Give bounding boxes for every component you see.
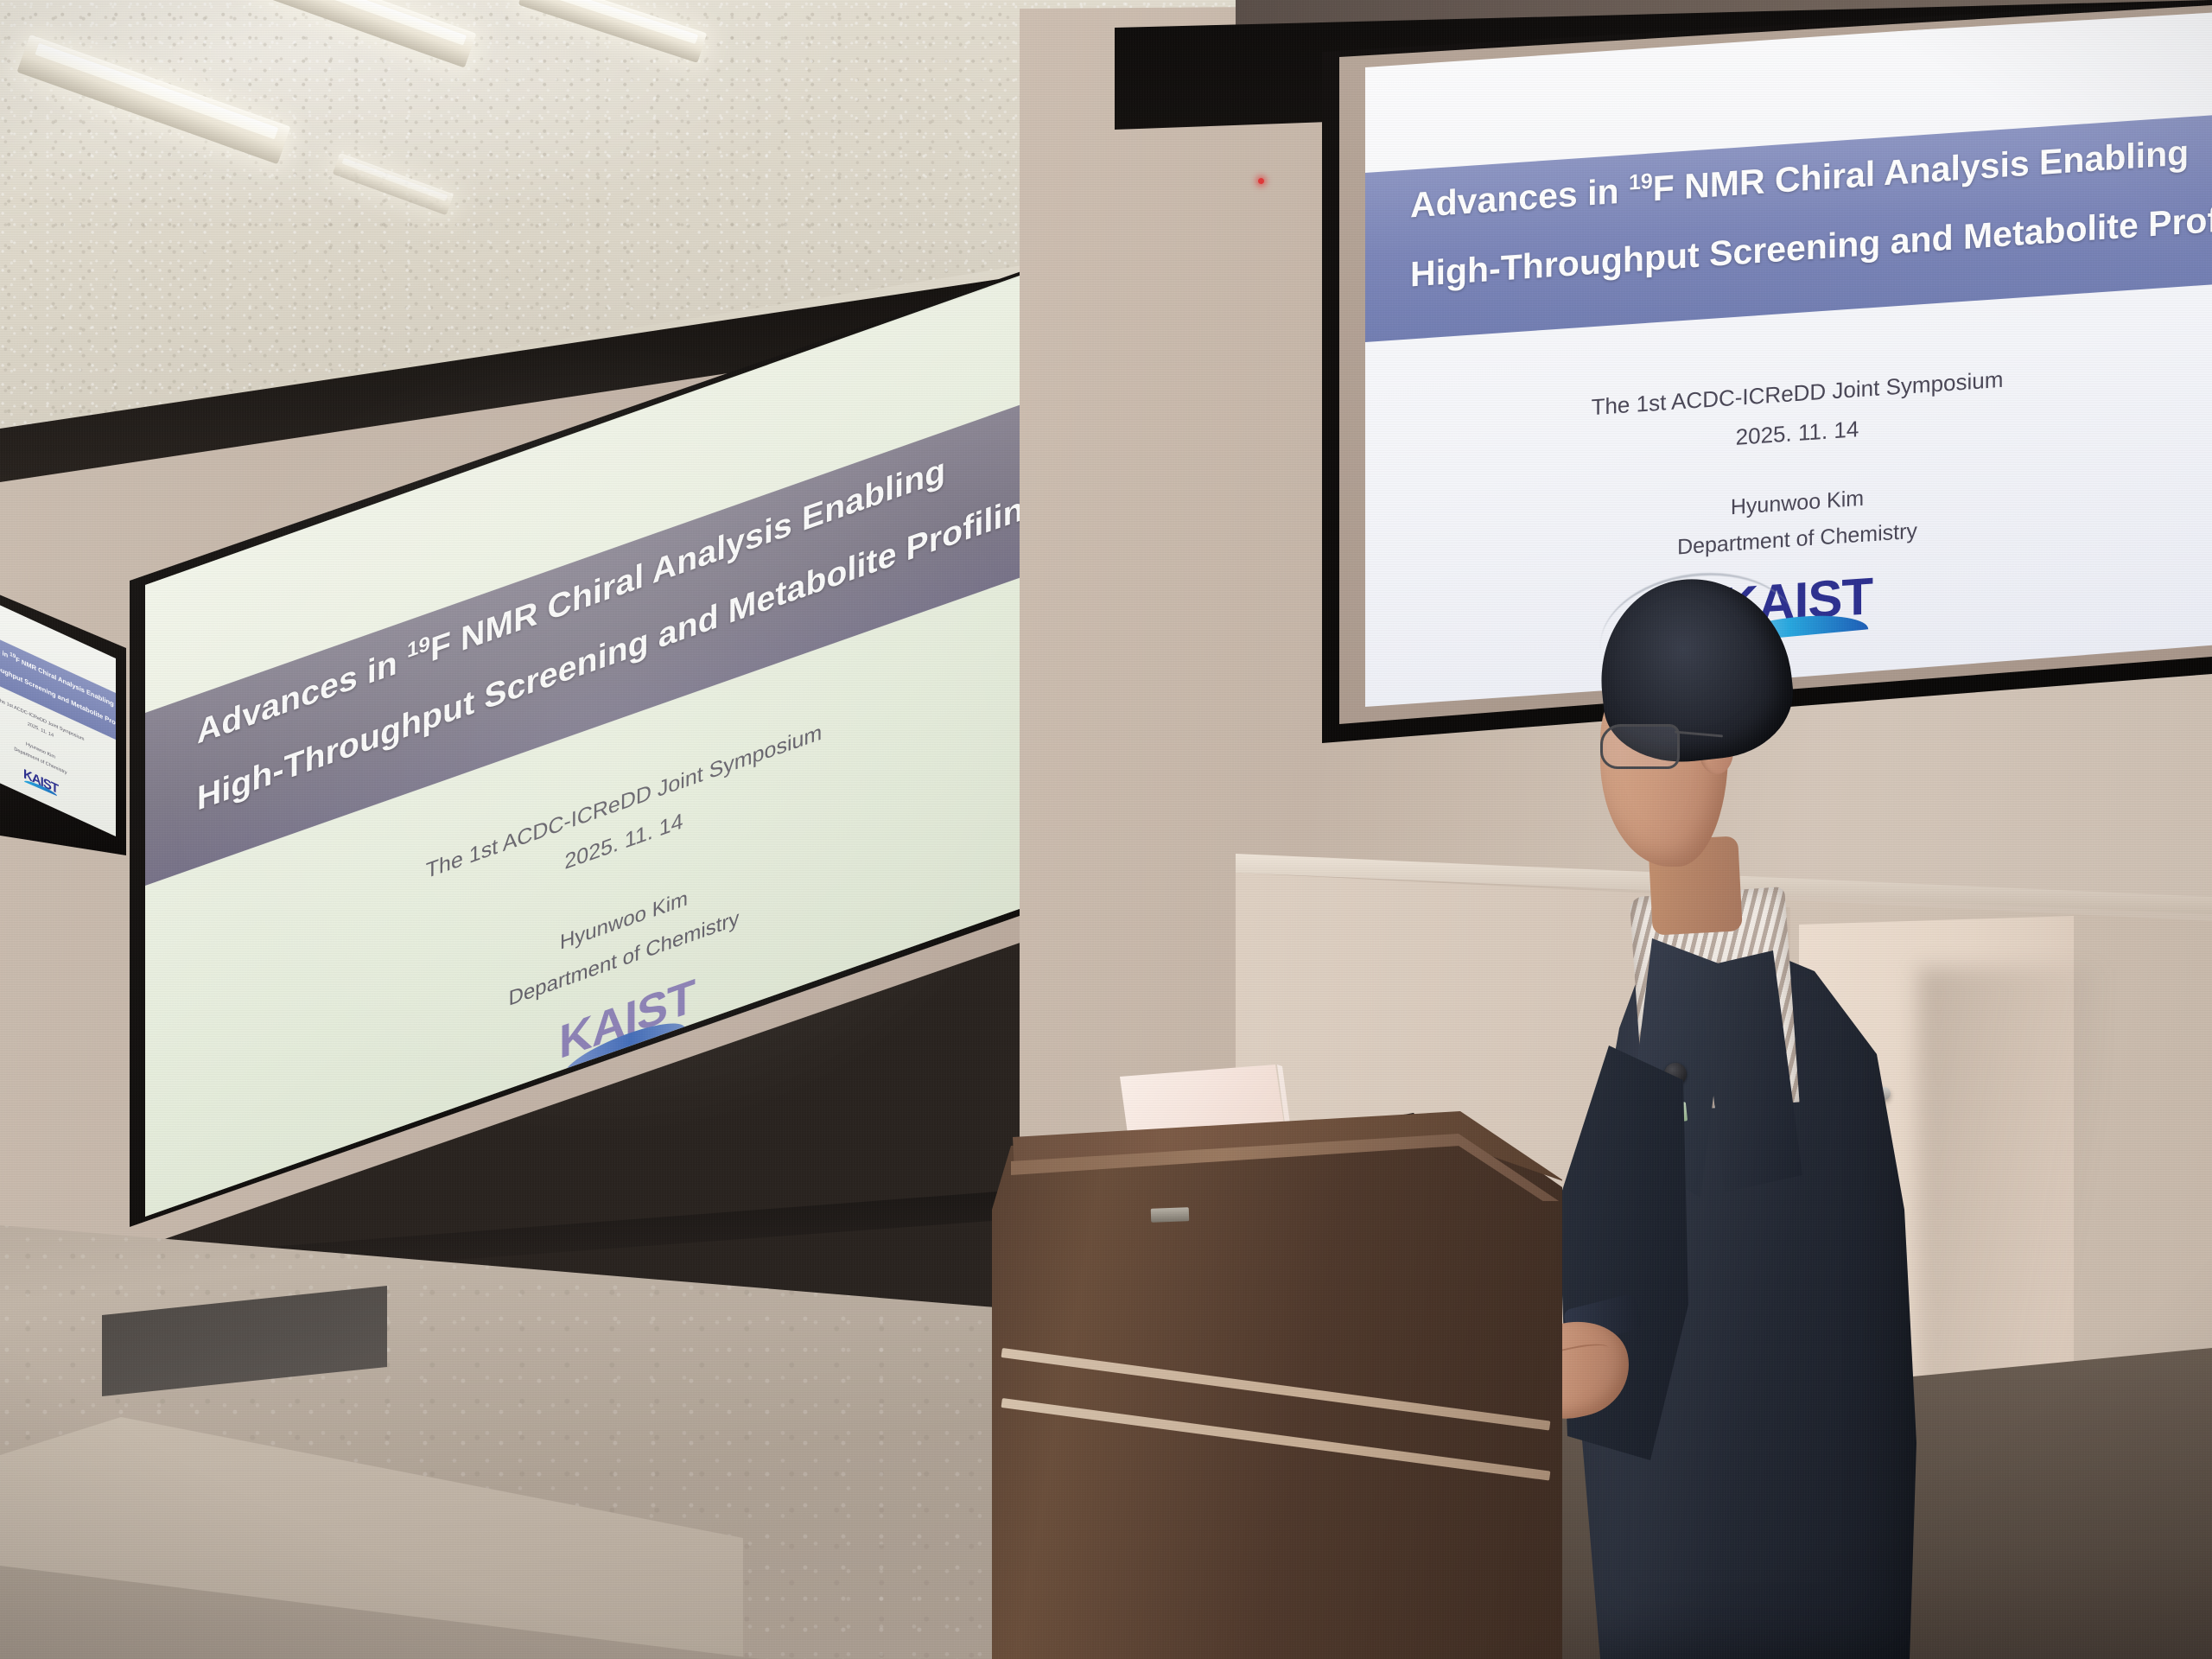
superscript-19: 19 <box>10 652 16 660</box>
status-indicator-led <box>1258 178 1264 184</box>
far-left-kaist-logo: KAIST <box>23 766 58 798</box>
superscript-19: 19 <box>407 632 430 664</box>
eyeglasses-icon <box>1600 724 1680 769</box>
superscript-19: 19 <box>1629 169 1653 195</box>
lecture-hall-photo: Advances in 19F NMR Chiral Analysis Enab… <box>0 0 2212 1659</box>
lectern-control-plate[interactable] <box>1151 1207 1190 1223</box>
main-title-line-2: High-Throughput Screening and Metabolite… <box>197 483 1045 819</box>
speaker <box>1547 579 1961 1659</box>
right-slide-title-band: Advances in 19F NMR Chiral Analysis Enab… <box>1365 114 2212 342</box>
